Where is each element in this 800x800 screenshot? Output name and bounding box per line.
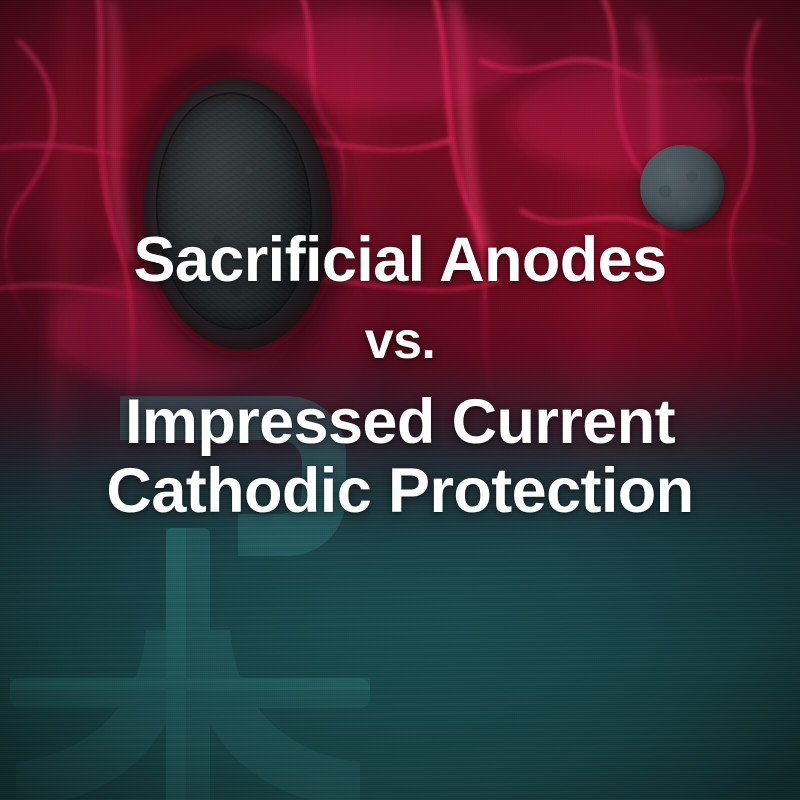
title-card-graphic: Sacrificial Anodes vs. Impressed Current…: [0, 0, 800, 800]
title-line-3: Impressed Current: [14, 390, 786, 455]
title-line-1: Sacrificial Anodes: [14, 228, 786, 293]
title-line-vs: vs.: [14, 315, 786, 369]
title-line-4: Cathodic Protection: [14, 459, 786, 524]
title-block: Sacrificial Anodes vs. Impressed Current…: [0, 228, 800, 524]
